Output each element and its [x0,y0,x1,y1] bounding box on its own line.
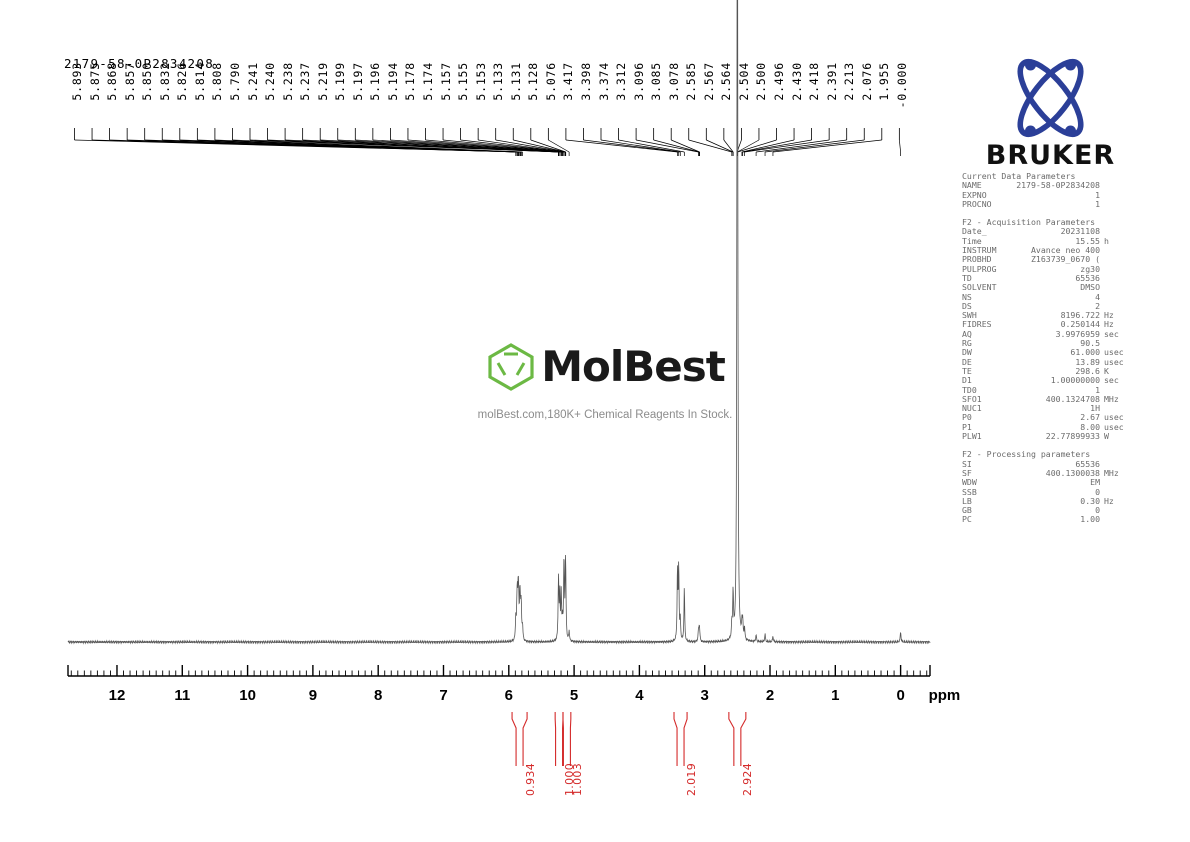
param-unit: Hz [1100,497,1134,506]
param-row: AQ3.9976959sec [962,330,1134,339]
param-value: 400.1300038 [1016,469,1100,478]
param-row: PC1.00 [962,515,1134,524]
param-value: 1 [1016,191,1100,200]
param-value: DMSO [1016,283,1100,292]
param-section-processing: F2 - Processing parameters [962,450,1134,459]
param-unit: sec [1100,330,1134,339]
integral-value: 1.003 [571,763,584,796]
param-unit [1100,200,1134,209]
param-value: 400.1324708 [1016,395,1100,404]
param-unit: MHz [1100,395,1134,404]
param-row: GB0 [962,506,1134,515]
param-row: PROCNO1 [962,200,1134,209]
param-row: LB0.30Hz [962,497,1134,506]
param-row: SOLVENTDMSO [962,283,1134,292]
param-group-acquisition: Date_20231108Time15.55hINSTRUMAvance neo… [962,227,1134,441]
param-unit [1100,478,1134,487]
bruker-wordmark: BRUKER [963,140,1138,171]
param-unit: MHz [1100,469,1134,478]
molbest-wordmark: MolBest [541,346,725,388]
integral-value: 2.924 [741,763,754,796]
param-key: PROCNO [962,200,1016,209]
param-value: 4 [1016,293,1100,302]
param-row: D11.00000000sec [962,376,1134,385]
param-row: PLW122.77899933W [962,432,1134,441]
param-unit [1100,515,1134,524]
integral-value: 0.934 [524,763,537,796]
bruker-logo: BRUKER [963,52,1138,144]
param-key: PLW1 [962,432,1016,441]
integral-bracket-edge [674,712,677,766]
integral-bracket-edge [512,712,516,766]
param-unit [1100,191,1134,200]
integral-bracket-edge [684,712,687,766]
param-value: 1.00 [1016,515,1100,524]
param-group-processing: SI65536SF400.1300038MHzWDWEMSSB0LB0.30Hz… [962,460,1134,525]
param-unit [1100,255,1134,264]
param-unit [1100,181,1134,190]
param-unit [1100,265,1134,274]
param-unit: sec [1100,376,1134,385]
param-row: SFO1400.1324708MHz [962,395,1134,404]
atom-orbit-icon [963,52,1138,144]
param-unit [1100,274,1134,283]
param-unit: h [1100,237,1134,246]
integral-bracket-edge [729,712,734,766]
param-value: EM [1016,478,1100,487]
acquisition-parameters-panel: Current Data Parameters NAME2179-58-0P28… [962,172,1134,525]
param-row: PULPROGzg30 [962,265,1134,274]
param-value: 1.00000000 [1016,376,1100,385]
molbest-tagline: molBest.com,180K+ Chemical Reagents In S… [455,409,755,421]
param-value: 1 [1016,200,1100,209]
integral-value: 2.019 [685,763,698,796]
integral-bracket-edge [741,712,746,766]
param-row: NS4 [962,293,1134,302]
param-row: WDWEM [962,478,1134,487]
integral-bracket-edge [523,712,527,766]
param-value: 22.77899933 [1016,432,1100,441]
param-row: SF400.1300038MHz [962,469,1134,478]
param-group-current: NAME2179-58-0P2834208EXPNO1PROCNO1 [962,181,1134,209]
param-unit [1100,246,1134,255]
param-unit: W [1100,432,1134,441]
param-unit [1100,506,1134,515]
param-row: NAME2179-58-0P2834208 [962,181,1134,190]
param-value: 0.30 [1016,497,1100,506]
param-section-acquisition: F2 - Acquisition Parameters [962,218,1134,227]
param-key: PC [962,515,1016,524]
molbest-watermark: MolBest molBest.com,180K+ Chemical Reage… [455,342,755,421]
param-unit [1100,283,1134,292]
param-value: 2179-58-0P2834208 [1016,181,1100,190]
hexagon-logo-icon [485,342,537,392]
param-unit [1100,293,1134,302]
